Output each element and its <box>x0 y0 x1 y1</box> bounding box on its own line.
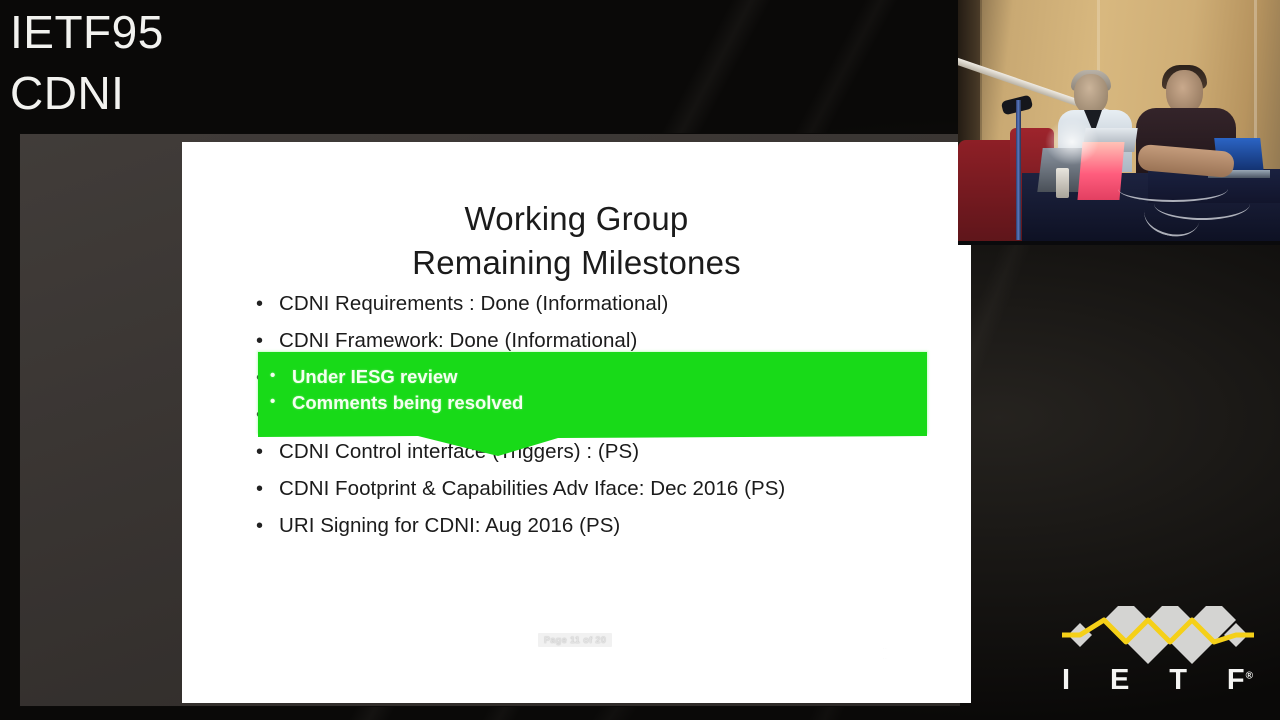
drink-cup <box>1056 168 1069 198</box>
callout-bullet-marker-icon: • <box>270 394 292 409</box>
webcam-video-inset[interactable] <box>958 0 1280 245</box>
logo-letter-f-group: F® <box>1227 664 1254 697</box>
slide-corner-watermark: ·· ·· <box>882 644 898 656</box>
ietf-wordmark: I E T F® <box>1058 664 1258 697</box>
bullet-marker-icon: • <box>256 331 279 351</box>
ietf-logo: I E T F® <box>1058 606 1258 706</box>
bullet-text: CDNI Requirements : Done (Informational) <box>279 294 951 315</box>
callout-line-list: • Under IESG review • Comments being res… <box>270 368 523 420</box>
bullet-marker-icon: • <box>256 479 279 499</box>
logo-letter-f: F <box>1227 664 1246 696</box>
callout-line: • Comments being resolved <box>270 394 523 420</box>
presenter-left-head <box>1074 74 1108 114</box>
bullet-text: CDNI Framework: Done (Informational) <box>279 331 951 352</box>
registered-trademark-icon: ® <box>1246 670 1254 681</box>
bullet-item: • CDNI Requirements : Done (Informationa… <box>256 294 951 331</box>
screen-capture: IETF95 CDNI Working Group Remaining Mile… <box>0 0 1280 720</box>
bullet-marker-icon: • <box>256 516 279 536</box>
bullet-text: URI Signing for CDNI: Aug 2016 (PS) <box>279 516 951 537</box>
bullet-marker-icon: • <box>256 294 279 314</box>
microphone-stand <box>1016 100 1021 240</box>
ietf-diamond-mark-icon <box>1058 606 1258 664</box>
callout-bullet-marker-icon: • <box>270 368 292 383</box>
logo-letter-t: T <box>1169 664 1188 697</box>
logo-letter-i: I <box>1062 664 1071 697</box>
bullet-text: CDNI Footprint & Capabilities Adv Iface:… <box>279 479 951 500</box>
session-title: IETF95 CDNI <box>10 2 164 123</box>
slide-title: Working Group Remaining Milestones <box>182 197 971 285</box>
bullet-item: • CDNI Footprint & Capabilities Adv Ifac… <box>256 479 951 516</box>
screen-glare <box>1044 118 1100 166</box>
bullet-item: • URI Signing for CDNI: Aug 2016 (PS) <box>256 516 951 553</box>
slide-page-indicator: Page 11 of 20 <box>538 633 612 647</box>
callout-line-text: Under IESG review <box>292 368 458 387</box>
callout-line-text: Comments being resolved <box>292 394 523 413</box>
green-annotation-callout: • Under IESG review • Comments being res… <box>258 352 927 433</box>
callout-line: • Under IESG review <box>270 368 523 394</box>
callout-tail-pointer-icon <box>258 432 927 457</box>
logo-letter-e: E <box>1110 664 1130 697</box>
video-bottom-letterbox <box>958 241 1280 245</box>
